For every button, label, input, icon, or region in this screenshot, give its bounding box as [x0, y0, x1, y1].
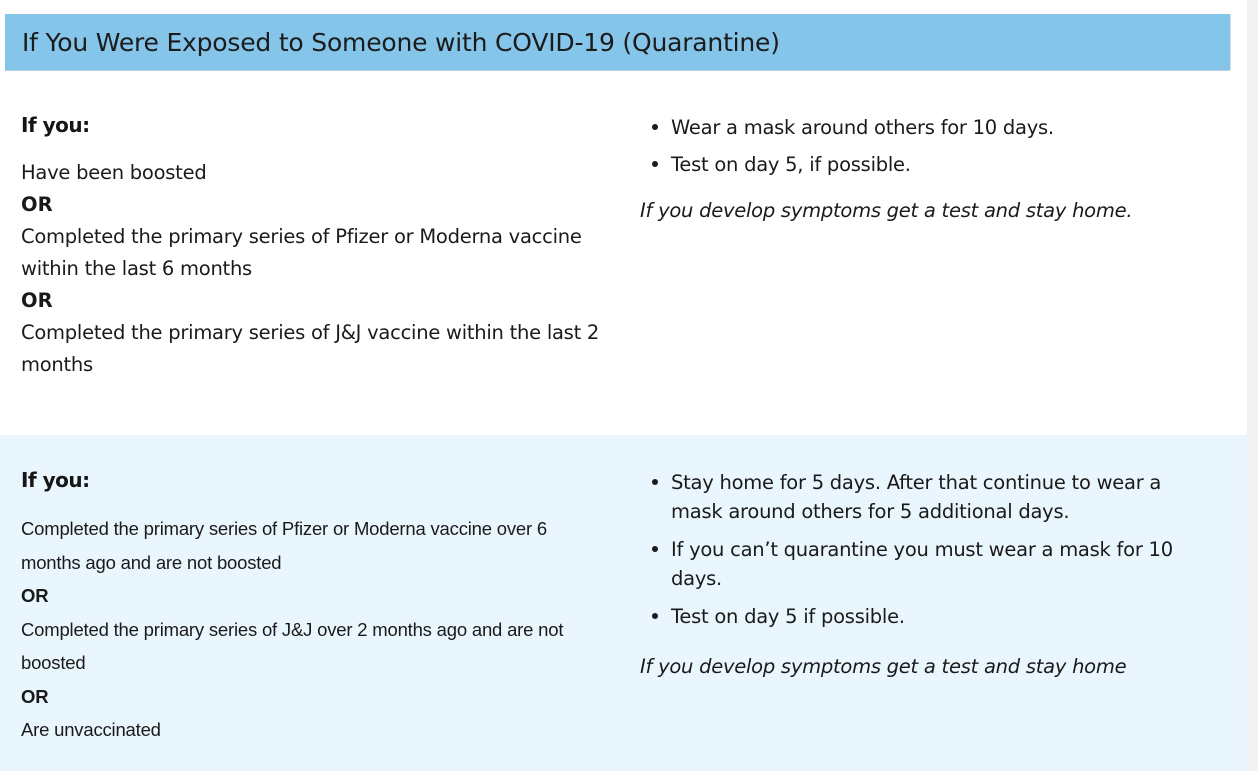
page-title: If You Were Exposed to Someone with COVI…	[22, 28, 780, 57]
action-list-item: If you can’t quarantine you must wear a …	[640, 535, 1207, 593]
actions-column: Stay home for 5 days. After that continu…	[640, 435, 1247, 681]
action-list-item: Test on day 5, if possible.	[640, 150, 1207, 179]
conditions-heading: If you:	[21, 113, 610, 137]
condition-separator-or: OR	[21, 579, 610, 613]
conditions-heading: If you:	[21, 468, 610, 492]
guidance-section-unvaccinated: If you: Completed the primary series of …	[0, 435, 1247, 771]
condition-separator-or: OR	[21, 680, 610, 714]
condition-line: Completed the primary series of J&J over…	[21, 613, 610, 680]
action-text: Test on day 5, if possible.	[671, 153, 911, 176]
conditions-list: Have been boosted OR Completed the prima…	[21, 157, 610, 381]
condition-line: Completed the primary series of Pfizer o…	[21, 512, 610, 579]
condition-line: Completed the primary series of Pfizer o…	[21, 221, 610, 285]
action-list-item: Test on day 5 if possible.	[640, 602, 1207, 631]
action-text: Test on day 5 if possible.	[671, 605, 905, 628]
action-text: If you can’t quarantine you must wear a …	[671, 538, 1173, 590]
page-banner: If You Were Exposed to Someone with COVI…	[5, 14, 1230, 70]
action-list-item: Wear a mask around others for 10 days.	[640, 113, 1207, 142]
bullet-icon	[652, 124, 658, 130]
condition-line: Have been boosted	[21, 157, 610, 189]
bullet-icon	[652, 546, 658, 552]
actions-list: Stay home for 5 days. After that continu…	[640, 468, 1207, 631]
action-text: Wear a mask around others for 10 days.	[671, 116, 1054, 139]
condition-separator-or: OR	[21, 285, 610, 317]
bullet-icon	[652, 161, 658, 167]
bullet-icon	[652, 479, 658, 485]
conditions-column: If you: Completed the primary series of …	[0, 435, 640, 747]
condition-separator-or: OR	[21, 189, 610, 221]
action-text: Stay home for 5 days. After that continu…	[671, 471, 1161, 523]
guidance-section-boosted: If you: Have been boosted OR Completed t…	[0, 80, 1247, 435]
condition-line: Are unvaccinated	[21, 713, 610, 747]
conditions-column: If you: Have been boosted OR Completed t…	[0, 80, 640, 381]
quarantine-guidance-page: If You Were Exposed to Someone with COVI…	[0, 0, 1258, 771]
actions-list: Wear a mask around others for 10 days. T…	[640, 113, 1207, 179]
conditions-list: Completed the primary series of Pfizer o…	[21, 512, 610, 747]
banner-region: If You Were Exposed to Someone with COVI…	[0, 0, 1247, 80]
bullet-icon	[652, 613, 658, 619]
actions-column: Wear a mask around others for 10 days. T…	[640, 80, 1247, 225]
symptoms-note: If you develop symptoms get a test and s…	[640, 652, 1207, 681]
action-list-item: Stay home for 5 days. After that continu…	[640, 468, 1207, 526]
page-scroll-gutter[interactable]	[1247, 0, 1258, 771]
condition-line: Completed the primary series of J&J vacc…	[21, 317, 610, 381]
symptoms-note: If you develop symptoms get a test and s…	[640, 196, 1207, 225]
